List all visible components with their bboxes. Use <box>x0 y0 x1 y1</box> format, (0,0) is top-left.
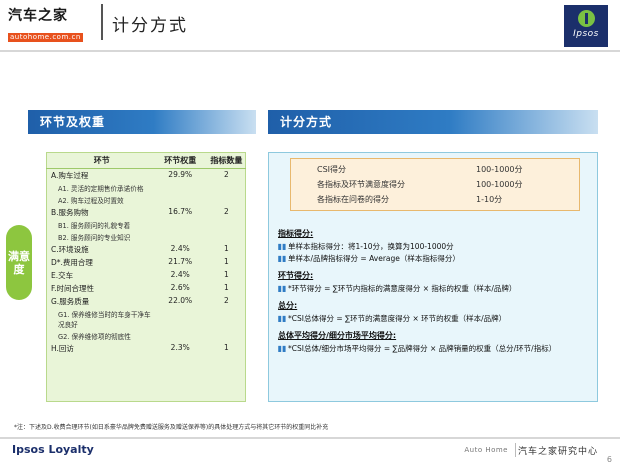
score-range-table: CSI得分 100-1000分 各指标及环节满意度得分 100-1000分 各指… <box>290 158 580 211</box>
page-footer: Ipsos Loyalty Auto Home 汽车之家研究中心 6 <box>0 439 620 465</box>
bullet-icon: ▮▮ <box>276 241 288 252</box>
formula-heading: 总分: <box>278 300 594 311</box>
table-row: A.购车过程 29.9% 2 <box>46 169 246 183</box>
score-range-label: 各指标及环节满意度得分 <box>291 178 476 191</box>
row-weight: 22.0% <box>154 295 207 308</box>
col-header-weight: 环节权重 <box>154 152 207 169</box>
row-weight: 2.4% <box>154 269 207 282</box>
row-weight: 2.3% <box>154 342 207 355</box>
row-sub-1: G1. 保养维修当时的车身干净车况良好 <box>46 308 154 330</box>
row-stage: C.环境设施 <box>46 243 154 256</box>
formula-text: 单样本/品牌指标得分 = Average（样本指标得分） <box>288 253 594 264</box>
row-weight: 16.7% <box>154 206 207 219</box>
autohome-logo: 汽车之家 autohome.com.cn <box>8 8 94 38</box>
formula-item: ▮▮ *CSI总体得分 = ∑环节的满意度得分 × 环节的权重（样本/品牌） <box>276 313 594 324</box>
table-row: C.环境设施 2.4% 1 <box>46 243 246 256</box>
footer-brand: Ipsos Loyalty <box>12 443 94 456</box>
table-row: G2. 保养维修项的彻底性 <box>46 330 246 342</box>
table-row: D*.费用合理 21.7% 1 <box>46 256 246 269</box>
footer-divider <box>515 443 516 457</box>
table-row: G.服务质量 22.0% 2 <box>46 295 246 308</box>
footer-autohome-cn: 汽车之家研究中心 <box>518 444 598 457</box>
table-row: B.服务购物 16.7% 2 <box>46 206 246 219</box>
table-row: B1. 服务顾问的礼貌专着 <box>46 219 246 231</box>
row-stage: G.服务质量 <box>46 295 154 308</box>
formula-text: *环节得分 = ∑环节内指标的满意度得分 × 指标的权重（样本/品牌） <box>288 283 594 294</box>
row-stage: B.服务购物 <box>46 206 154 219</box>
row-weight: 21.7% <box>154 256 207 269</box>
score-range-row: CSI得分 100-1000分 <box>291 162 579 177</box>
weights-table: 环节 环节权重 指标数量 A.购车过程 29.9% 2 A1. 灵活的定期售价承… <box>46 152 246 355</box>
row-count: 1 <box>207 256 246 269</box>
formula-heading: 环节得分: <box>278 270 594 281</box>
table-row: B2. 服务顾问的专业知识 <box>46 231 246 243</box>
satisfaction-tab: 满意度 <box>6 225 32 300</box>
formula-item: ▮▮ *CSI总体/细分市场平均得分 = ∑品牌得分 × 品牌销量的权重（总分/… <box>276 343 594 354</box>
col-header-stage: 环节 <box>46 152 154 169</box>
formula-item: ▮▮ *环节得分 = ∑环节内指标的满意度得分 × 指标的权重（样本/品牌） <box>276 283 594 294</box>
scoring-formulas: 指标得分: ▮▮ 单样本指标得分：将1-10分，换算为100-1000分 ▮▮ … <box>276 228 594 355</box>
section-bar-right: 计分方式 <box>268 110 598 134</box>
row-sub-2: G2. 保养维修项的彻底性 <box>46 330 154 342</box>
table-row: A1. 灵活的定期售价承诺价格 <box>46 182 246 194</box>
score-range-label: CSI得分 <box>291 163 476 176</box>
autohome-logo-en: autohome.com.cn <box>8 33 83 42</box>
row-weight: 2.6% <box>154 282 207 295</box>
page-title: 计分方式 <box>112 11 188 36</box>
ipsos-mark-icon <box>578 10 595 27</box>
table-header-row: 环节 环节权重 指标数量 <box>46 152 246 169</box>
score-range-row: 各指标在问卷的得分 1-10分 <box>291 192 579 207</box>
row-count: 1 <box>207 243 246 256</box>
row-sub-2: A2. 购车过程及时置效 <box>46 194 154 206</box>
formula-text: *CSI总体得分 = ∑环节的满意度得分 × 环节的权重（样本/品牌） <box>288 313 594 324</box>
score-range-row: 各指标及环节满意度得分 100-1000分 <box>291 177 579 192</box>
row-count: 2 <box>207 206 246 219</box>
row-count: 1 <box>207 269 246 282</box>
table-row: A2. 购车过程及时置效 <box>46 194 246 206</box>
row-sub-1: A1. 灵活的定期售价承诺价格 <box>46 182 154 194</box>
header-rule <box>0 50 620 52</box>
row-stage: H.回访 <box>46 342 154 355</box>
row-weight: 29.9% <box>154 169 207 183</box>
col-header-count: 指标数量 <box>207 152 246 169</box>
page-number: 6 <box>607 455 612 464</box>
score-range-value: 100-1000分 <box>476 163 576 176</box>
row-stage: F.时间合理性 <box>46 282 154 295</box>
autohome-logo-cn: 汽车之家 <box>8 8 94 24</box>
row-sub-1: B1. 服务顾问的礼貌专着 <box>46 219 154 231</box>
section-bar-left: 环节及权重 <box>28 110 256 134</box>
table-row: F.时间合理性 2.6% 1 <box>46 282 246 295</box>
bullet-icon: ▮▮ <box>276 253 288 264</box>
row-count: 2 <box>207 169 246 183</box>
footnote: *注：下述及D.收费合理环节(如日系豪华品牌免费赠送服务及赠送保养等)的具体处理… <box>14 424 606 432</box>
row-stage: E.交车 <box>46 269 154 282</box>
row-count: 1 <box>207 342 246 355</box>
row-sub-2: B2. 服务顾问的专业知识 <box>46 231 154 243</box>
formula-text: *CSI总体/细分市场平均得分 = ∑品牌得分 × 品牌销量的权重（总分/环节/… <box>288 343 594 354</box>
table-row: G1. 保养维修当时的车身干净车况良好 <box>46 308 246 330</box>
score-range-value: 1-10分 <box>476 193 576 206</box>
ipsos-logo-text: Ipsos <box>564 29 608 39</box>
formula-item: ▮▮ 单样本/品牌指标得分 = Average（样本指标得分） <box>276 253 594 264</box>
score-range-label: 各指标在问卷的得分 <box>291 193 476 206</box>
row-count: 1 <box>207 282 246 295</box>
formula-heading: 指标得分: <box>278 228 594 239</box>
page-header: 汽车之家 autohome.com.cn 计分方式 Ipsos <box>0 0 620 52</box>
formula-text: 单样本指标得分：将1-10分，换算为100-1000分 <box>288 241 594 252</box>
row-weight: 2.4% <box>154 243 207 256</box>
ipsos-logo: Ipsos <box>564 5 608 47</box>
formula-item: ▮▮ 单样本指标得分：将1-10分，换算为100-1000分 <box>276 241 594 252</box>
bullet-icon: ▮▮ <box>276 283 288 294</box>
table-row: E.交车 2.4% 1 <box>46 269 246 282</box>
row-count: 2 <box>207 295 246 308</box>
score-range-value: 100-1000分 <box>476 178 576 191</box>
row-stage: D*.费用合理 <box>46 256 154 269</box>
table-row: H.回访 2.3% 1 <box>46 342 246 355</box>
bullet-icon: ▮▮ <box>276 313 288 324</box>
bullet-icon: ▮▮ <box>276 343 288 354</box>
row-stage: A.购车过程 <box>46 169 154 183</box>
footer-autohome-en: Auto Home <box>464 446 508 454</box>
header-divider <box>101 4 103 40</box>
formula-heading: 总体平均得分/细分市场平均得分: <box>278 330 594 341</box>
